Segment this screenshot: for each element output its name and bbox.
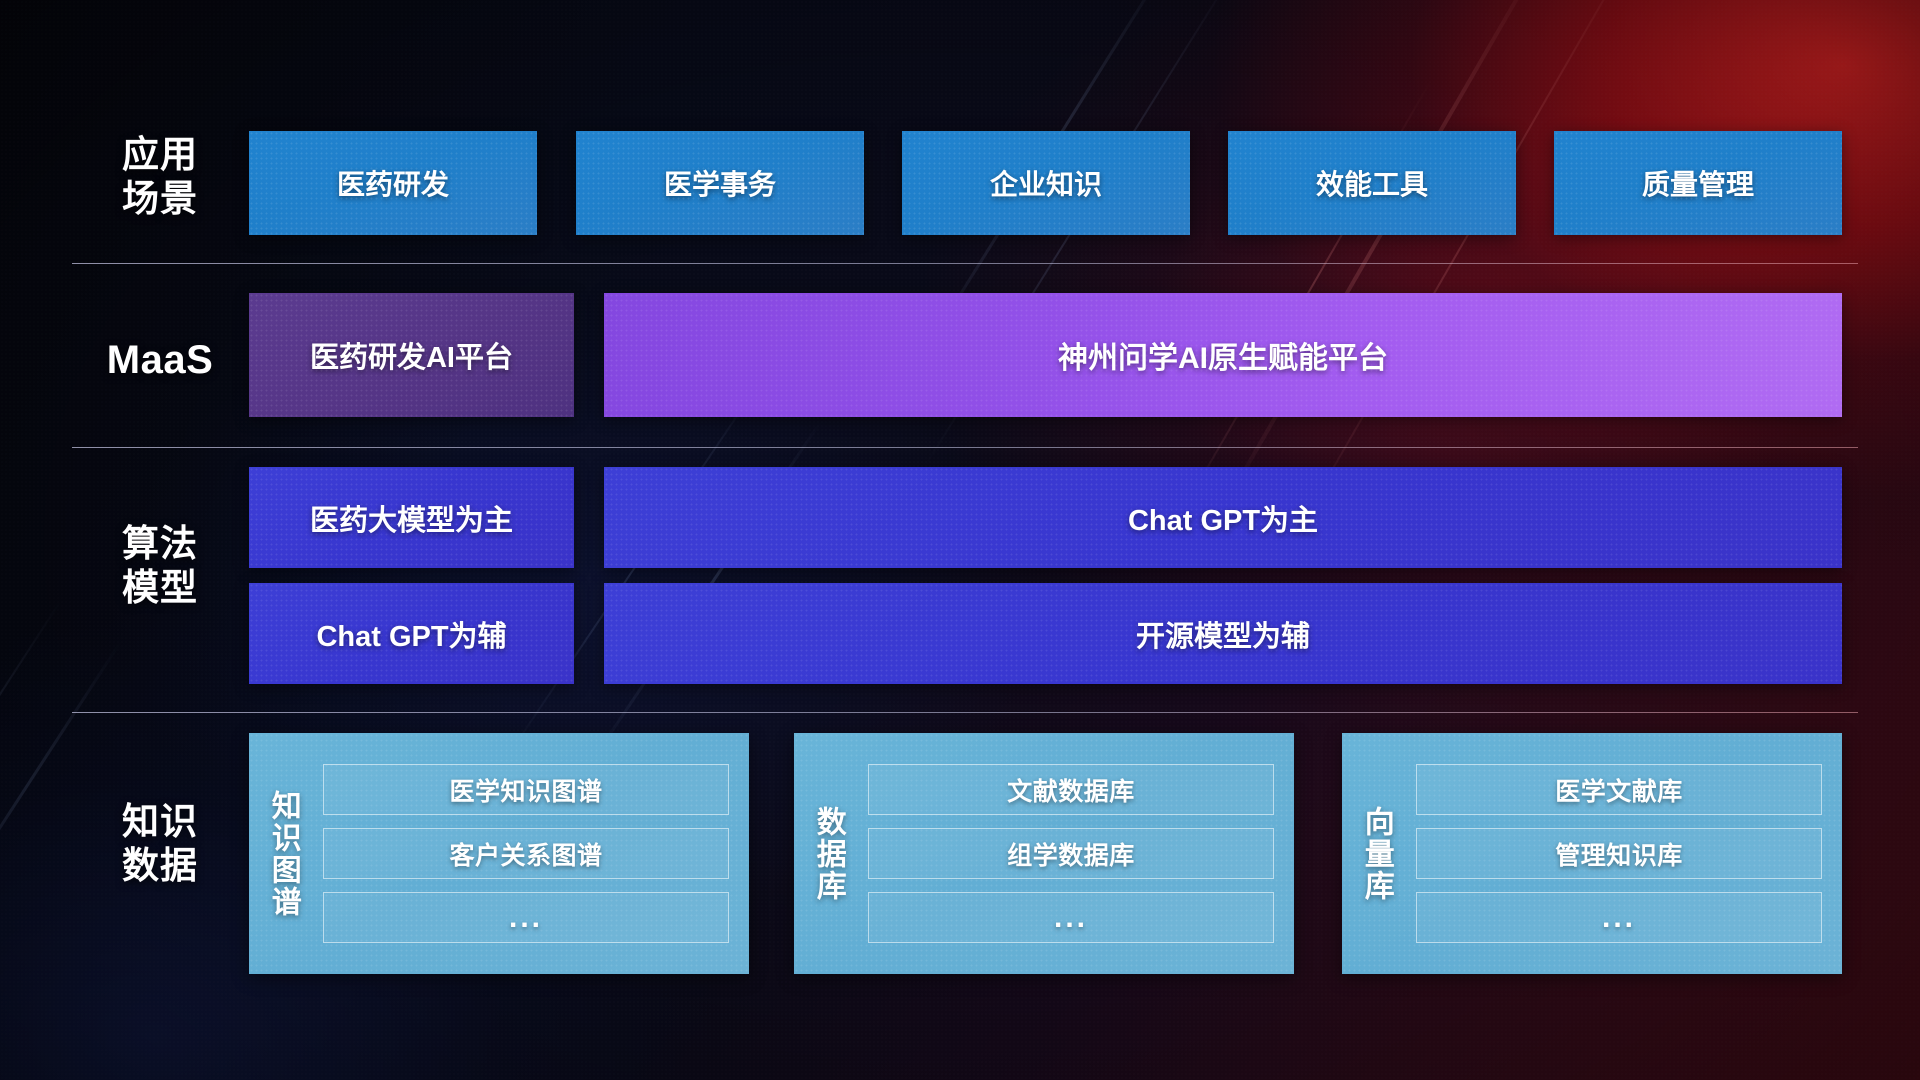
algo-box-pharma-model-primary[interactable]: 医药大模型为主: [249, 467, 574, 568]
row-label-application-line2: 场景: [90, 177, 230, 221]
app-box-1-label: 医药研发: [337, 163, 449, 203]
row-label-algorithm: 算法 模型: [90, 522, 230, 609]
knowledge-item-omics-db[interactable]: 组学数据库: [868, 828, 1274, 879]
app-box-4[interactable]: 效能工具: [1228, 131, 1516, 235]
row-label-knowledge-line1: 知识: [90, 800, 230, 844]
knowledge-group-vector-store[interactable]: 向量库 医学文献库 管理知识库 ...: [1342, 733, 1842, 974]
algo-box-opensource-secondary-label: 开源模型为辅: [1136, 613, 1310, 655]
knowledge-group-knowledge-graph-label: 知识图谱: [249, 733, 317, 974]
algo-box-chatgpt-secondary[interactable]: Chat GPT为辅: [249, 583, 574, 684]
maas-box-pharma-ai-platform[interactable]: 医药研发AI平台: [249, 293, 574, 417]
knowledge-item-medical-literature[interactable]: 医学文献库: [1416, 764, 1822, 815]
row-label-algorithm-line2: 模型: [90, 566, 230, 610]
divider-3: [72, 712, 1858, 713]
divider-2: [72, 447, 1858, 448]
architecture-diagram: 应用 场景 医药研发 医学事务 企业知识 效能工具 质量管理 MaaS 医药研发…: [0, 0, 1920, 1080]
knowledge-item-vector-more[interactable]: ...: [1416, 892, 1822, 943]
maas-box-shenzhou-platform[interactable]: 神州问学AI原生赋能平台: [604, 293, 1842, 417]
algo-box-pharma-model-primary-label: 医药大模型为主: [310, 497, 513, 539]
row-label-application: 应用 场景: [90, 133, 230, 220]
knowledge-item-literature-db[interactable]: 文献数据库: [868, 764, 1274, 815]
row-label-application-line1: 应用: [90, 133, 230, 177]
algo-box-chatgpt-secondary-label: Chat GPT为辅: [316, 613, 506, 655]
knowledge-item-graph-more[interactable]: ...: [323, 892, 729, 943]
row-label-algorithm-line1: 算法: [90, 522, 230, 566]
row-label-maas-text: MaaS: [90, 337, 230, 384]
divider-1: [72, 263, 1858, 264]
knowledge-group-vector-store-label: 向量库: [1342, 733, 1410, 974]
row-label-knowledge-line2: 数据: [90, 844, 230, 888]
app-box-5[interactable]: 质量管理: [1554, 131, 1842, 235]
knowledge-item-management-knowledge[interactable]: 管理知识库: [1416, 828, 1822, 879]
app-box-4-label: 效能工具: [1316, 163, 1428, 203]
knowledge-group-database-label: 数据库: [794, 733, 862, 974]
maas-box-pharma-ai-platform-label: 医药研发AI平台: [310, 334, 513, 376]
knowledge-item-database-more[interactable]: ...: [868, 892, 1274, 943]
app-box-3-label: 企业知识: [990, 163, 1102, 203]
knowledge-group-database[interactable]: 数据库 文献数据库 组学数据库 ...: [794, 733, 1294, 974]
app-box-2-label: 医学事务: [664, 163, 776, 203]
knowledge-item-customer-graph[interactable]: 客户关系图谱: [323, 828, 729, 879]
algo-box-opensource-secondary[interactable]: 开源模型为辅: [604, 583, 1842, 684]
app-box-2[interactable]: 医学事务: [576, 131, 864, 235]
row-label-maas: MaaS: [90, 337, 230, 384]
row-label-knowledge: 知识 数据: [90, 800, 230, 887]
app-box-1[interactable]: 医药研发: [249, 131, 537, 235]
knowledge-item-medical-graph[interactable]: 医学知识图谱: [323, 764, 729, 815]
app-box-5-label: 质量管理: [1642, 163, 1754, 203]
algo-box-chatgpt-primary-label: Chat GPT为主: [1128, 497, 1318, 539]
app-box-3[interactable]: 企业知识: [902, 131, 1190, 235]
knowledge-group-knowledge-graph[interactable]: 知识图谱 医学知识图谱 客户关系图谱 ...: [249, 733, 749, 974]
maas-box-shenzhou-platform-label: 神州问学AI原生赋能平台: [1058, 333, 1388, 377]
algo-box-chatgpt-primary[interactable]: Chat GPT为主: [604, 467, 1842, 568]
